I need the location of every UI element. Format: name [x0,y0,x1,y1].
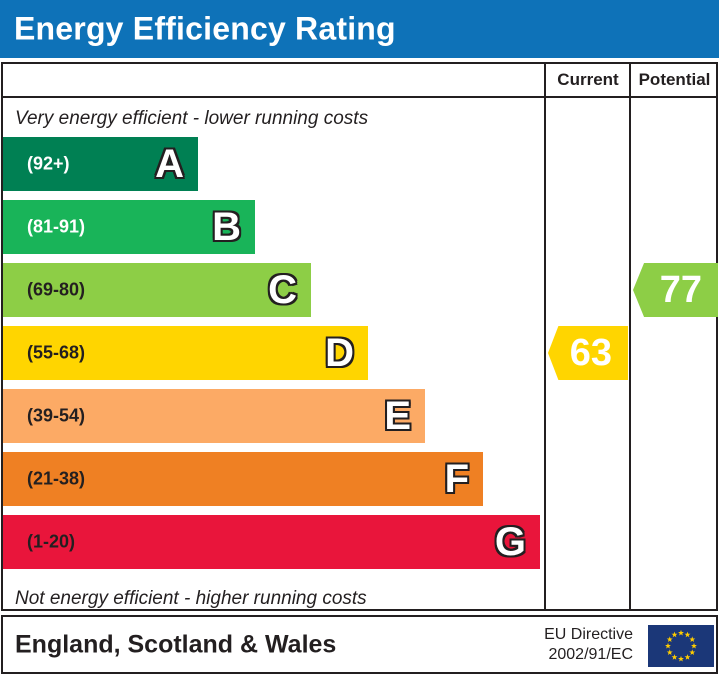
band-row-f: (21-38)F [3,452,483,506]
band-row-g: (1-20)G [3,515,540,569]
band-list: (92+)A(81-91)B(69-80)C(55-68)D(39-54)E(2… [3,137,543,577]
potential-rating-value: 77 [660,271,702,309]
potential-rating-arrow: 77 [633,263,718,317]
band-range-g: (1-20) [27,532,75,553]
caption-efficient: Very energy efficient - lower running co… [15,108,368,130]
chart-body: Current Potential Very energy efficient … [1,62,718,611]
band-letter-c: C [268,270,297,310]
band-range-a: (92+) [27,154,70,175]
band-row-a: (92+)A [3,137,198,191]
band-row-e: (39-54)E [3,389,425,443]
band-letter-a: A [155,144,184,184]
eu-flag-icon [648,625,714,667]
band-range-b: (81-91) [27,217,85,238]
band-row-d: (55-68)D [3,326,368,380]
band-row-b: (81-91)B [3,200,255,254]
band-range-e: (39-54) [27,406,85,427]
column-divider-potential [629,64,631,609]
band-letter-f: F [445,459,469,499]
energy-efficiency-rating-chart: Energy Efficiency Rating Current Potenti… [0,0,719,675]
chart-title-bar: Energy Efficiency Rating [0,0,719,58]
page-title: Energy Efficiency Rating [14,11,396,48]
column-header-row: Current Potential [3,64,716,98]
current-rating-arrow: 63 [548,326,628,380]
band-letter-e: E [384,396,411,436]
column-divider-current [544,64,546,609]
caption-inefficient: Not energy efficient - higher running co… [15,588,367,610]
band-letter-b: B [212,207,241,247]
band-range-c: (69-80) [27,280,85,301]
band-range-d: (55-68) [27,343,85,364]
band-letter-g: G [495,522,526,562]
footer-region-label: England, Scotland & Wales [15,630,336,659]
band-letter-d: D [325,333,354,373]
column-header-current: Current [546,64,630,96]
column-header-potential: Potential [631,64,718,96]
band-range-f: (21-38) [27,469,85,490]
band-row-c: (69-80)C [3,263,311,317]
chart-footer: England, Scotland & Wales EU Directive 2… [1,615,718,674]
footer-directive-line1: EU Directive [523,625,633,645]
footer-directive-line2: 2002/91/EC [523,645,633,665]
current-rating-value: 63 [570,334,612,372]
footer-directive: EU Directive 2002/91/EC [523,625,633,665]
